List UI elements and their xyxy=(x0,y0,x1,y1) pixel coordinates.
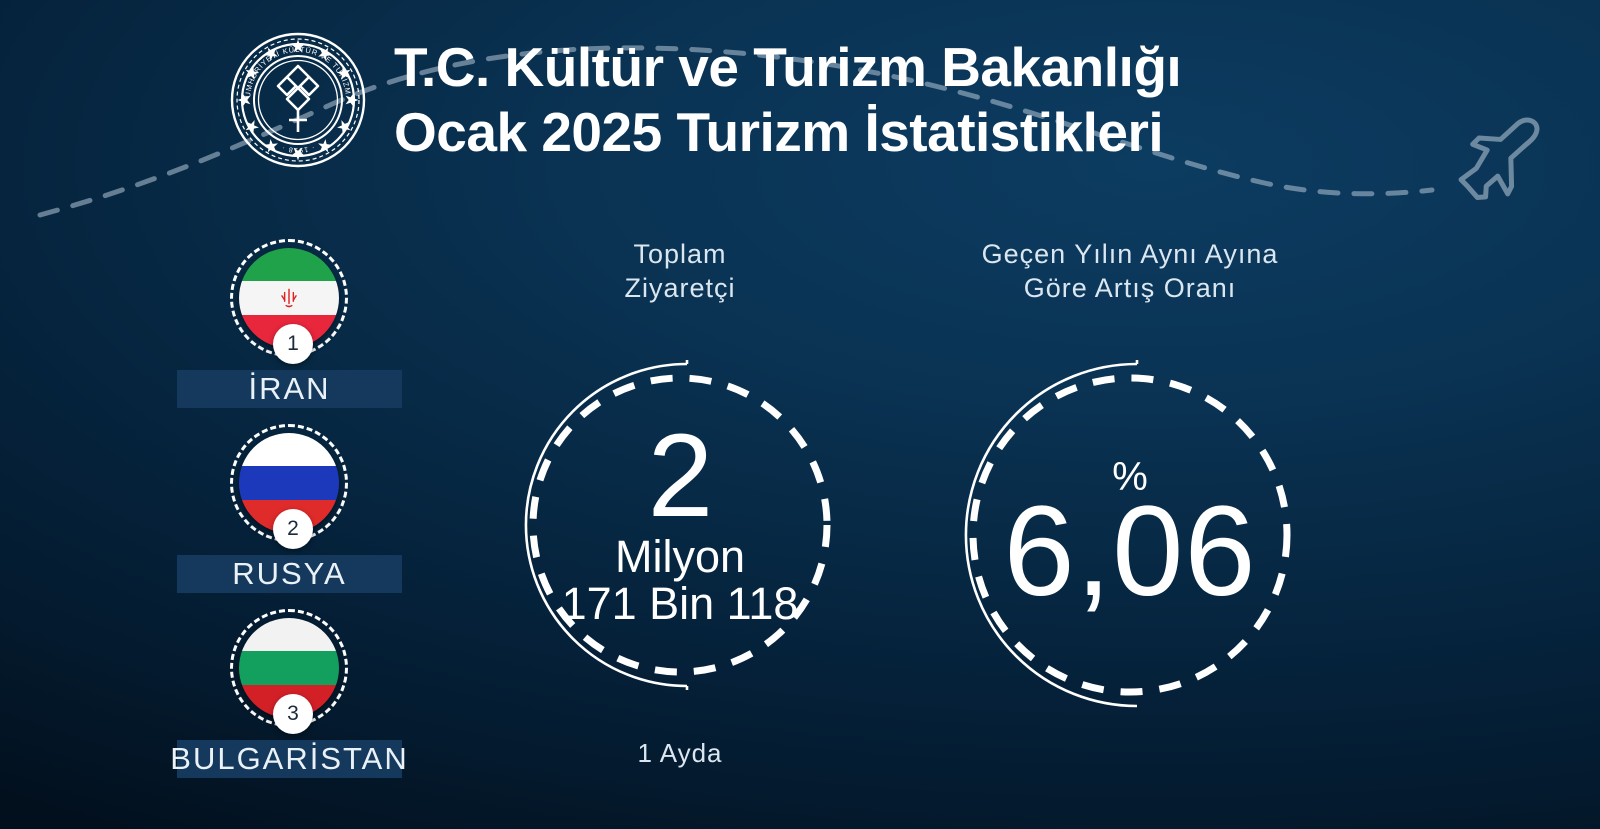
stat-total-visitors: Toplam Ziyaretçi 2 Milyon 171 Bin 118 1 … xyxy=(515,360,845,690)
country-name-bar: RUSYA xyxy=(177,555,402,593)
flag-band-mid xyxy=(239,466,339,499)
caption-line-1: Toplam xyxy=(624,238,735,272)
caption-line-1: Geçen Yılın Aynı Ayına xyxy=(982,238,1279,272)
list-item[interactable]: 2 RUSYA xyxy=(177,433,407,618)
svg-text:TÜRKİYE CUMHURİYETİ KÜLTÜR VE: TÜRKİYE CUMHURİYETİ KÜLTÜR VE TURİZM BAK… xyxy=(228,30,353,98)
country-name-bar: BULGARİSTAN xyxy=(177,740,402,778)
flag-band-top xyxy=(239,618,339,651)
rank-badge: 3 xyxy=(273,694,313,734)
title-line-2: Ocak 2025 Turizm İstatistikleri xyxy=(394,105,1181,160)
visitors-sub-number: 171 Bin 118 xyxy=(562,580,799,627)
page-header: TÜRKİYE CUMHURİYETİ KÜLTÜR VE TURİZM BAK… xyxy=(228,30,1181,170)
iran-emblem-icon xyxy=(276,285,302,311)
visitors-big-number: 2 xyxy=(648,422,713,531)
growth-percent-value: 6,06 xyxy=(1003,491,1256,613)
caption-line-2: Göre Artış Oranı xyxy=(982,272,1279,306)
growth-value-block: % 6,06 xyxy=(955,360,1305,710)
infographic-canvas: TÜRKİYE CUMHURİYETİ KÜLTÜR VE TURİZM BAK… xyxy=(0,0,1600,829)
visitors-value-block: 2 Milyon 171 Bin 118 xyxy=(515,360,845,690)
flag-band-top xyxy=(239,433,339,466)
caption-line-2: Ziyaretçi xyxy=(624,272,735,306)
country-name-label: RUSYA xyxy=(232,556,347,592)
flag-band-top xyxy=(239,248,339,281)
stat-growth-rate: Geçen Yılın Aynı Ayına Göre Artış Oranı … xyxy=(955,360,1305,710)
list-item[interactable]: 1 İRAN xyxy=(177,248,407,433)
visitors-footnote: 1 Ayda xyxy=(637,738,722,769)
airplane-icon xyxy=(1450,117,1554,206)
country-name-bar: İRAN xyxy=(177,370,402,408)
country-name-label: İRAN xyxy=(248,371,330,407)
title-line-1: T.C. Kültür ve Turizm Bakanlığı xyxy=(394,40,1181,95)
ministry-seal-logo: TÜRKİYE CUMHURİYETİ KÜLTÜR VE TURİZM BAK… xyxy=(228,30,368,170)
visitors-unit: Milyon xyxy=(615,533,745,580)
top-countries-list: 1 İRAN 2 RUSYA xyxy=(177,248,407,803)
stat-caption: Geçen Yılın Aynı Ayına Göre Artış Oranı xyxy=(982,238,1279,306)
list-item[interactable]: 3 BULGARİSTAN xyxy=(177,618,407,803)
stat-caption: Toplam Ziyaretçi xyxy=(624,238,735,306)
title-block: T.C. Kültür ve Turizm Bakanlığı Ocak 202… xyxy=(394,40,1181,160)
country-name-label: BULGARİSTAN xyxy=(170,741,408,777)
rank-badge: 1 xyxy=(273,324,313,364)
rank-badge: 2 xyxy=(273,509,313,549)
flag-band-mid xyxy=(239,651,339,684)
